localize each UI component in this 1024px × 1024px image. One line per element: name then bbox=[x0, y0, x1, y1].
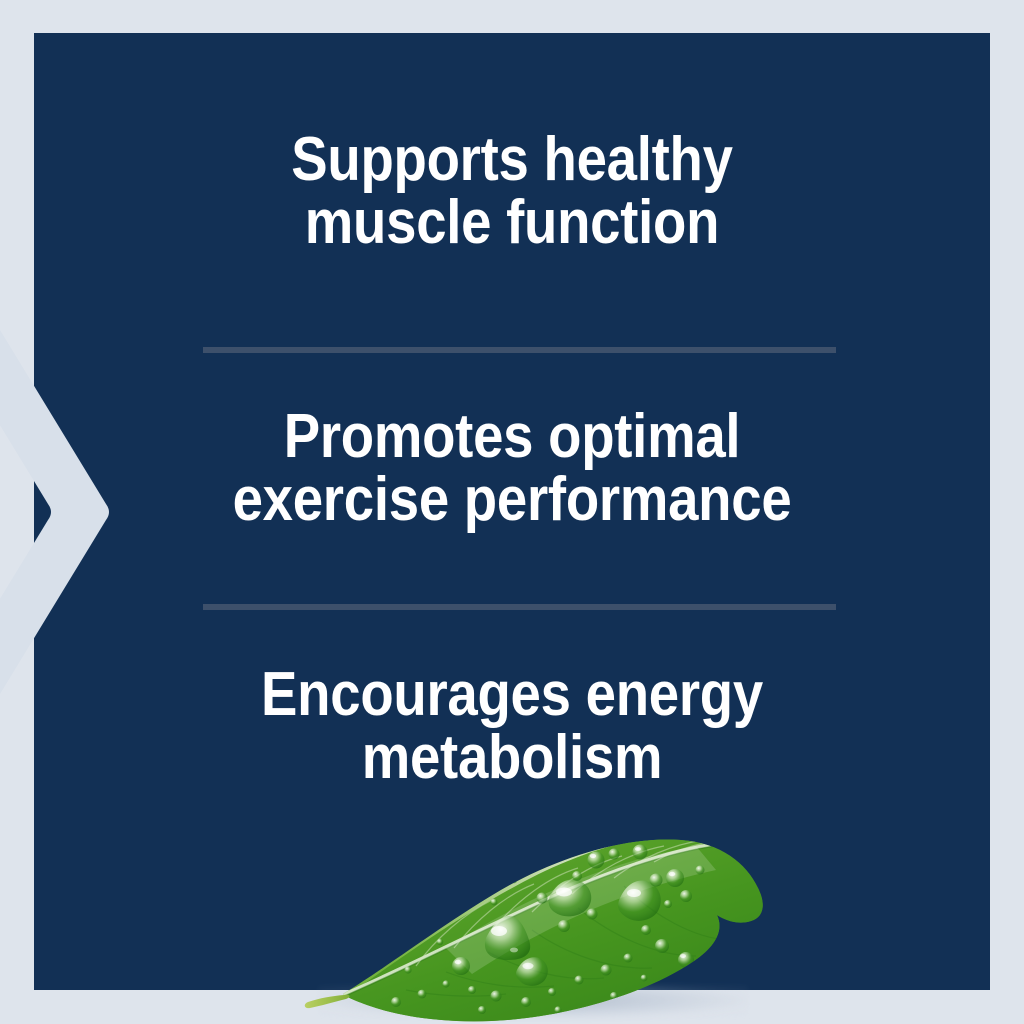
benefit-line: Supports healthy bbox=[162, 128, 862, 191]
leaf-image bbox=[296, 818, 778, 1024]
benefits-card: Supports healthy muscle function Promote… bbox=[0, 0, 1024, 1024]
benefit-divider bbox=[203, 604, 836, 610]
benefit-item-muscle-function: Supports healthy muscle function bbox=[34, 128, 990, 254]
leaf-icon bbox=[296, 818, 778, 1024]
benefit-item-energy-metabolism: Encourages energy metabolism bbox=[34, 663, 990, 789]
benefit-line: metabolism bbox=[162, 726, 862, 789]
benefit-item-exercise-performance: Promotes optimal exercise performance bbox=[34, 405, 990, 531]
benefit-line: Promotes optimal bbox=[162, 405, 862, 468]
benefit-divider bbox=[203, 347, 836, 353]
benefit-line: Encourages energy bbox=[162, 663, 862, 726]
benefit-line: muscle function bbox=[162, 191, 862, 254]
benefit-line: exercise performance bbox=[162, 468, 862, 531]
